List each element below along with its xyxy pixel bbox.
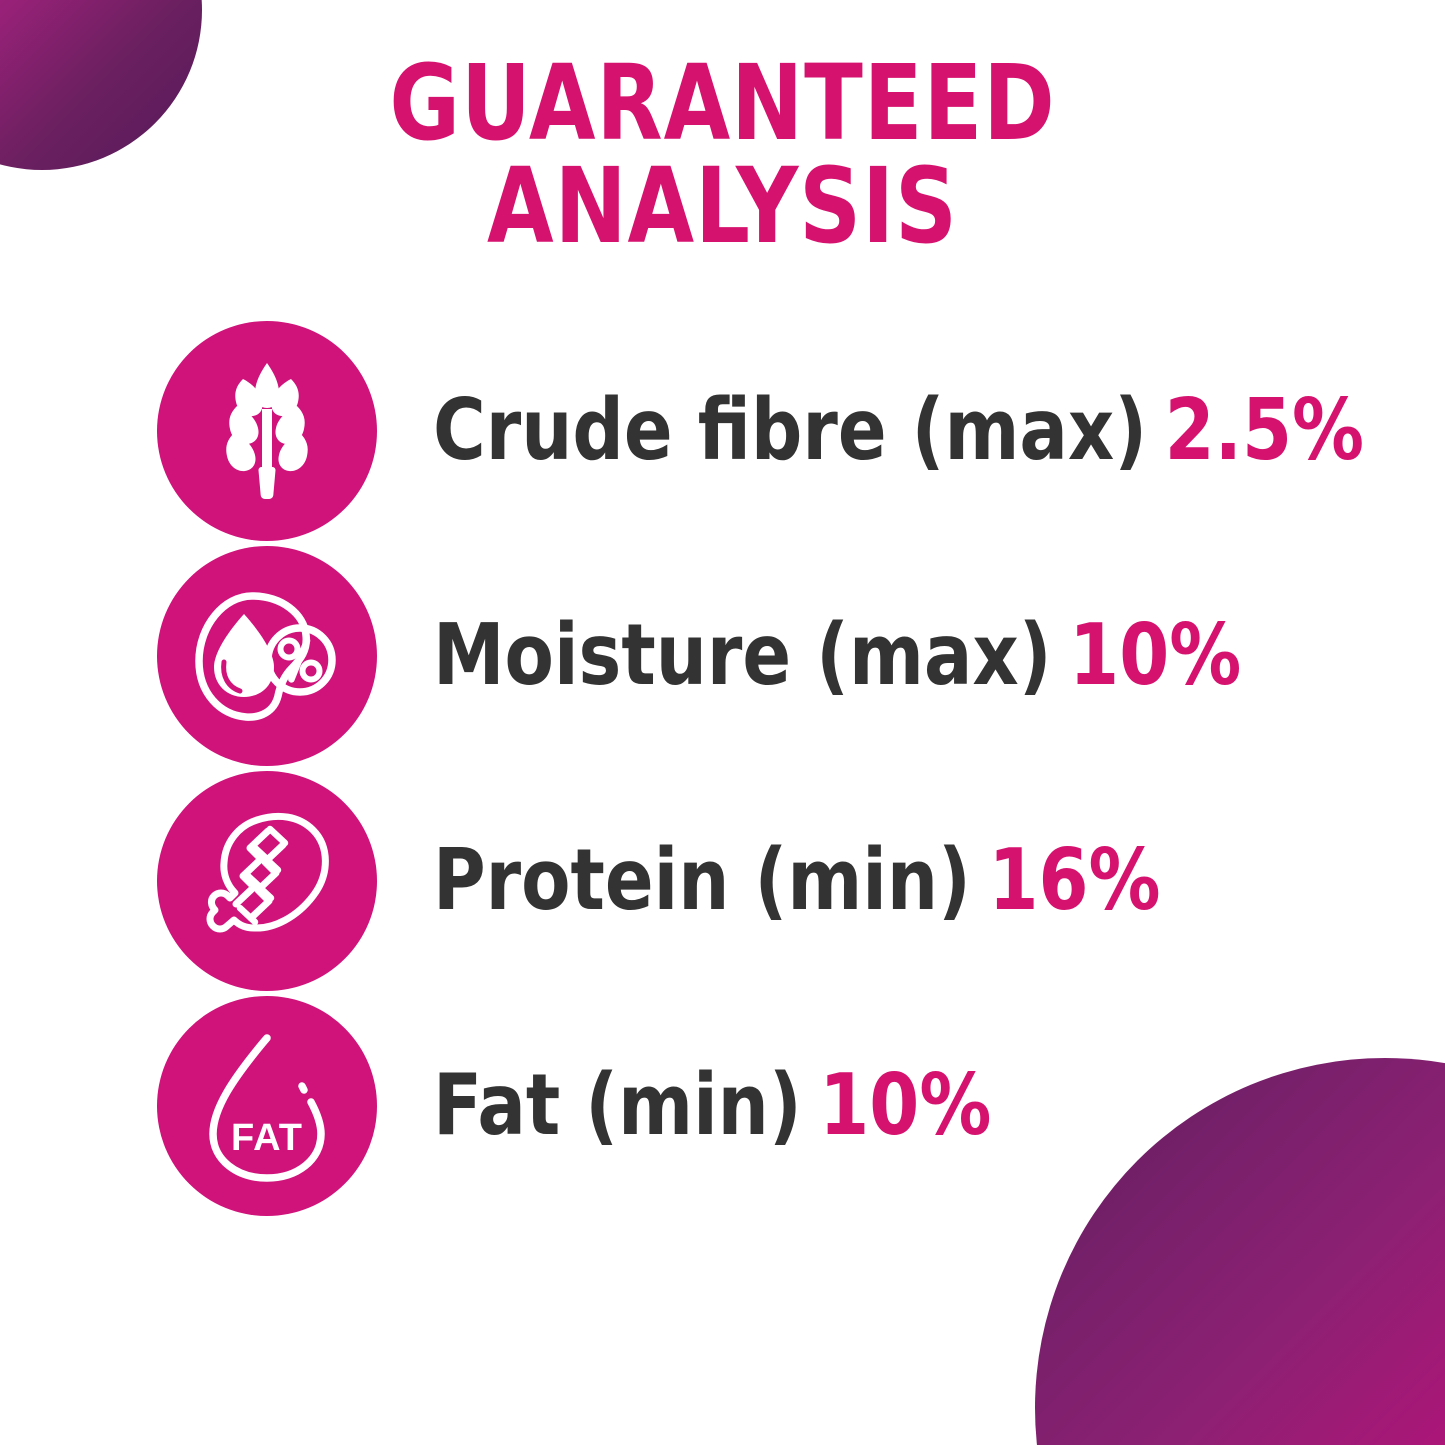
list-item-label: Fat (min)10% bbox=[433, 1063, 991, 1148]
page-title-line-2: ANALYSIS bbox=[58, 155, 1387, 258]
fat-droplet-icon: FAT bbox=[157, 996, 377, 1216]
page-title: GUARANTEED ANALYSIS bbox=[58, 52, 1387, 258]
list-item-moisture: Moisture (max)10% bbox=[0, 543, 1445, 768]
nutrient-name: Protein (min) bbox=[433, 831, 971, 930]
nutrient-value: 16% bbox=[988, 831, 1160, 930]
nutrient-value: 10% bbox=[1069, 606, 1241, 705]
nutrient-name: Fat (min) bbox=[433, 1056, 802, 1155]
list-item-protein: Protein (min)16% bbox=[0, 768, 1445, 993]
list-item-label: Moisture (max)10% bbox=[433, 613, 1241, 698]
water-droplet-percent-icon bbox=[157, 546, 377, 766]
nutrient-value: 2.5% bbox=[1165, 381, 1364, 480]
list-item-label: Crude fibre (max)2.5% bbox=[433, 388, 1364, 473]
nutrient-name: Moisture (max) bbox=[433, 606, 1052, 705]
nutrient-value: 10% bbox=[819, 1056, 991, 1155]
list-item-label: Protein (min)16% bbox=[433, 838, 1161, 923]
list-item-fat: FAT Fat (min)10% bbox=[0, 993, 1445, 1218]
wheat-icon bbox=[157, 321, 377, 541]
fat-icon-text: FAT bbox=[231, 1117, 303, 1159]
list-item-crude-fibre: Crude fibre (max)2.5% bbox=[0, 318, 1445, 543]
chicken-drumstick-dna-icon bbox=[157, 771, 377, 991]
page-title-line-1: GUARANTEED bbox=[58, 52, 1387, 155]
guaranteed-analysis-graphic: GUARANTEED ANALYSIS bbox=[0, 0, 1445, 1445]
nutrient-name: Crude fibre (max) bbox=[433, 381, 1147, 480]
analysis-list: Crude fibre (max)2.5% bbox=[0, 318, 1445, 1218]
